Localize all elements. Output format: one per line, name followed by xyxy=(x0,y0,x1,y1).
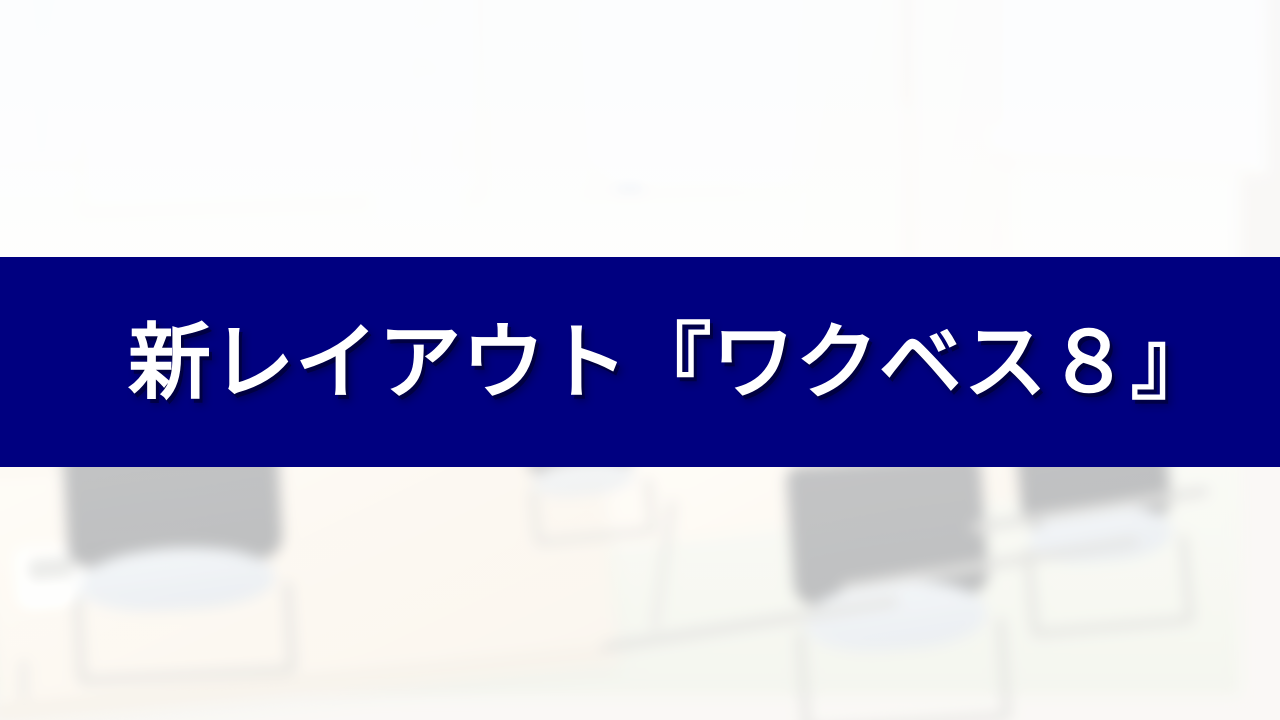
whiteboard-small-tray xyxy=(738,148,790,188)
whiteboard-eraser xyxy=(616,182,644,193)
wall-panel-right xyxy=(790,0,1015,260)
hanging-cord xyxy=(904,0,906,105)
window-blinds-fold xyxy=(1138,0,1184,149)
whiteboard-large-notes xyxy=(409,0,460,170)
curtain-left-panel xyxy=(0,0,50,180)
whiteboard-large-tray xyxy=(372,166,464,220)
chair-legs xyxy=(797,618,1011,720)
screenshot-root: 新レイアウト『ワクベス８』 xyxy=(0,0,1280,720)
wall-seam xyxy=(908,0,911,260)
whiteboard-small-notes xyxy=(759,14,790,155)
wire-mesh-glass xyxy=(1192,0,1252,145)
banner-title-text: 新レイアウト『ワクベス８』 xyxy=(0,321,1214,404)
chair-legs xyxy=(74,582,295,684)
whiteboard-large-leg-left xyxy=(76,135,88,220)
title-banner: 新レイアウト『ワクベス８』 xyxy=(0,257,1280,467)
pen-stand xyxy=(595,165,613,193)
window-blinds xyxy=(1008,0,1158,151)
desk-leg xyxy=(20,660,27,700)
